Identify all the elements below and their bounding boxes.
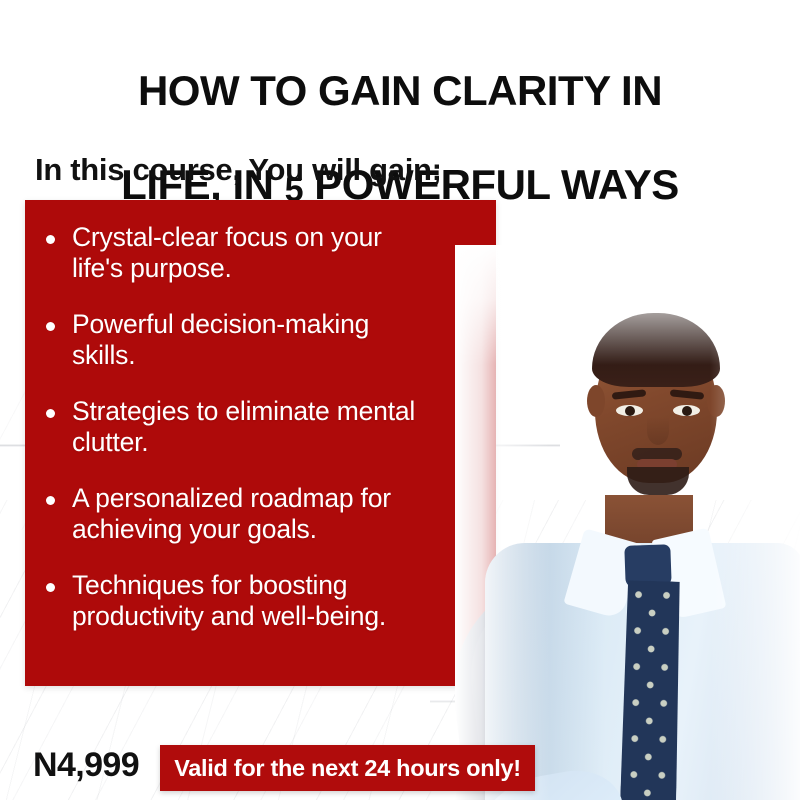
list-item-label: Crystal-clear focus on your life's purpo…: [72, 222, 382, 284]
list-item-label: Techniques for boosting productivity and…: [72, 570, 386, 632]
list-item-label: Powerful decision-making skills.: [72, 309, 369, 371]
price-label: N4,999: [33, 746, 139, 785]
list-item: A personalized roadmap for achieving you…: [37, 483, 565, 545]
benefits-list: Crystal-clear focus on your life's purpo…: [25, 200, 565, 686]
list-item: Powerful decision-making skills.: [37, 309, 565, 371]
photo-fade-right: [710, 245, 800, 800]
list-item: Crystal-clear focus on your life's purpo…: [37, 222, 565, 284]
ear-left: [587, 385, 605, 417]
nose: [647, 417, 669, 445]
bullet-dot-icon: [46, 496, 55, 505]
pupil-right: [682, 406, 692, 416]
beard: [627, 467, 689, 495]
list-item-label: Strategies to eliminate mental clutter.: [72, 396, 415, 458]
promotional-poster: HOW TO GAIN CLARITY IN LIFE, IN 5 POWERF…: [0, 0, 800, 800]
bullet-dot-icon: [46, 409, 55, 418]
list-item: Techniques for boosting productivity and…: [37, 570, 565, 632]
bullet-dot-icon: [46, 235, 55, 244]
page-title-line-1: HOW TO GAIN CLARITY IN: [0, 67, 800, 114]
pupil-left: [625, 406, 635, 416]
list-item: Strategies to eliminate mental clutter.: [37, 396, 565, 458]
offer-badge-label: Valid for the next 24 hours only!: [174, 755, 521, 782]
tie-body: [620, 580, 682, 800]
subtitle: In this course, You will gain;: [35, 152, 442, 188]
bullet-dot-icon: [46, 322, 55, 331]
bullet-dot-icon: [46, 583, 55, 592]
list-item-label: A personalized roadmap for achieving you…: [72, 483, 391, 545]
offer-badge: Valid for the next 24 hours only!: [160, 745, 535, 791]
